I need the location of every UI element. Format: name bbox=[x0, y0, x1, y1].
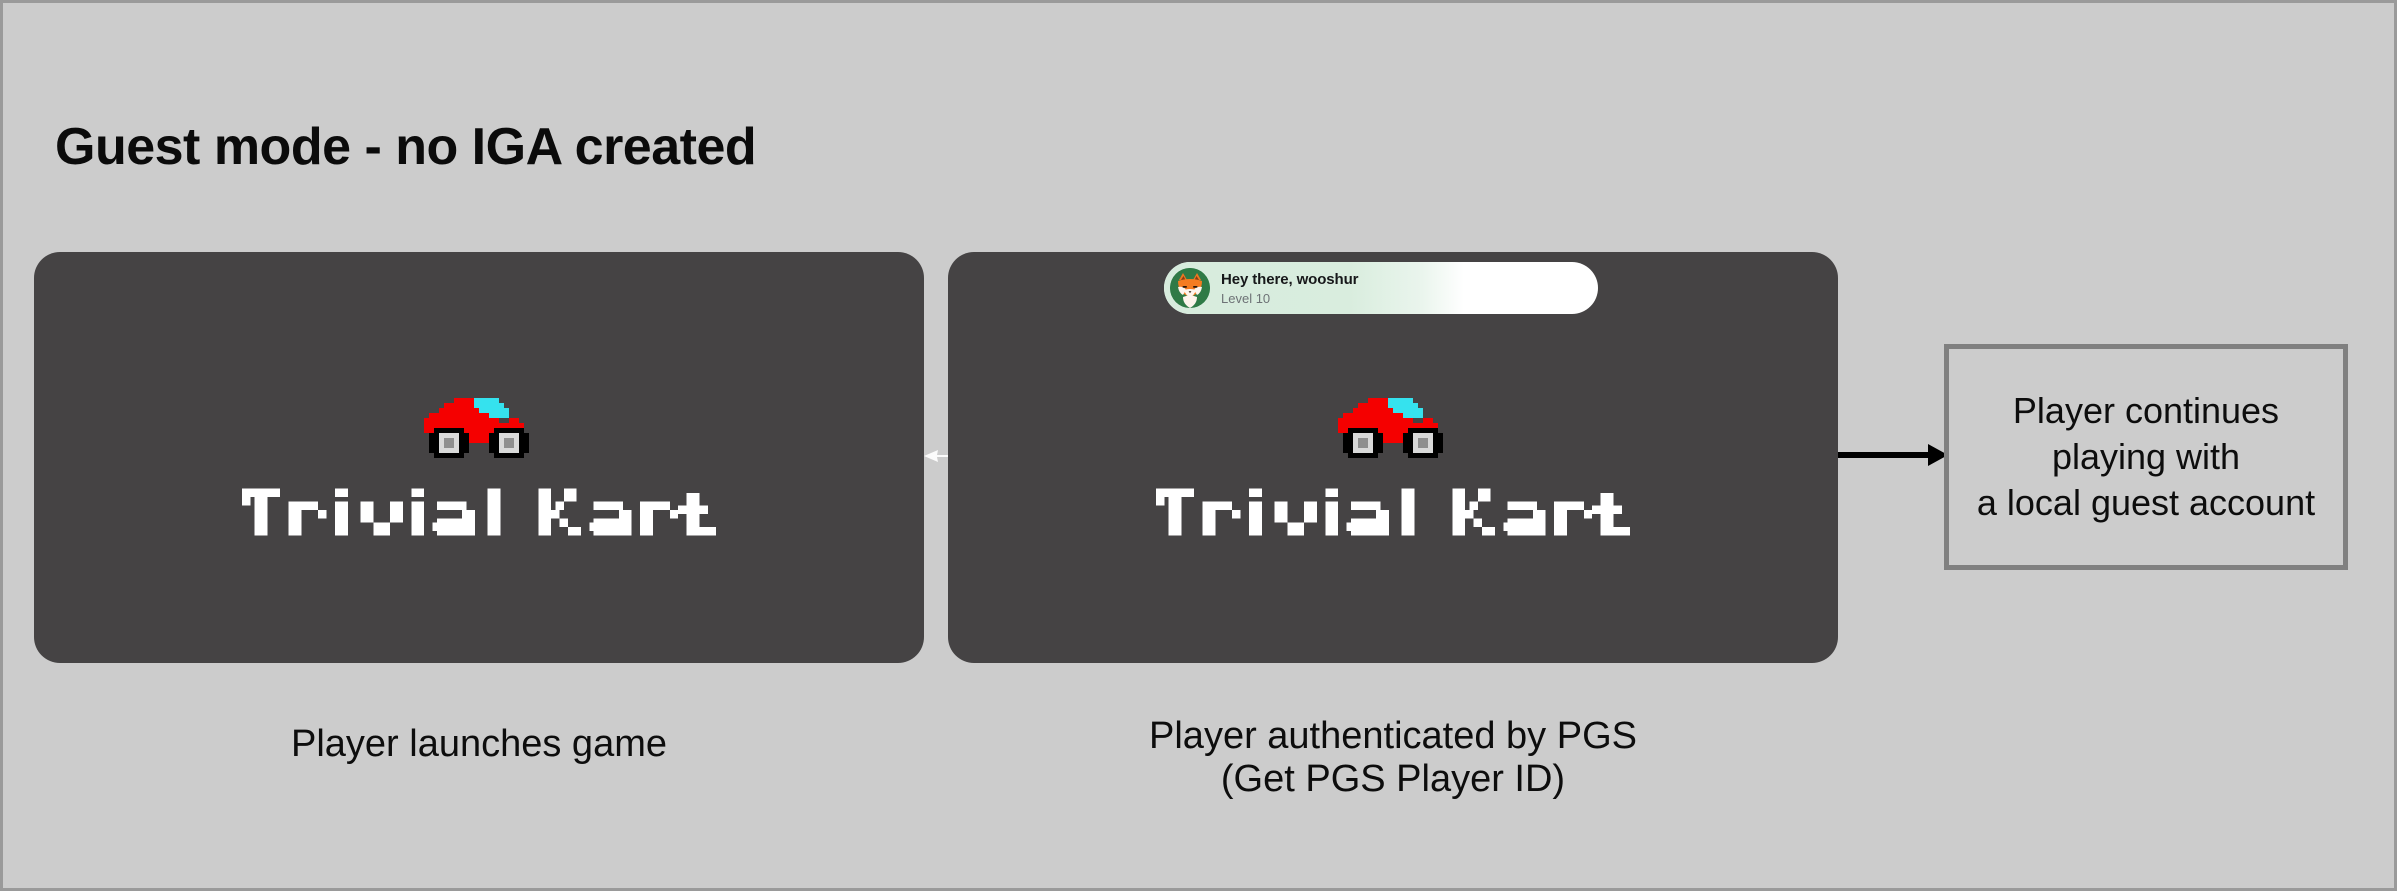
panel-connector-arrow-icon bbox=[924, 447, 948, 465]
pixel-car-icon bbox=[1323, 388, 1463, 458]
outcome-text: Player continues playing with a local gu… bbox=[1977, 388, 2315, 526]
page-title: Guest mode - no IGA created bbox=[55, 117, 756, 177]
panel-caption-2: Player authenticated by PGS (Get PGS Pla… bbox=[948, 715, 1838, 800]
pixel-car-wheel-rear bbox=[1403, 428, 1443, 458]
game-logo-block-2: Trivial Kart bbox=[948, 388, 1838, 548]
pgs-toast-level: Level 10 bbox=[1221, 292, 1358, 305]
flow-arrow-icon bbox=[1838, 440, 1948, 470]
pixel-car-icon bbox=[409, 388, 549, 458]
pgs-welcome-toast[interactable]: Hey there, wooshur Level 10 bbox=[1164, 262, 1598, 314]
panel-caption-1: Player launches game bbox=[34, 723, 924, 766]
game-screen-panel-1[interactable]: Trivial Kart bbox=[34, 252, 924, 663]
fox-avatar-icon bbox=[1170, 268, 1210, 308]
diagram-canvas: Guest mode - no IGA created bbox=[0, 0, 2397, 891]
pixel-car-wheel-rear bbox=[489, 428, 529, 458]
pgs-toast-greeting: Hey there, wooshur bbox=[1221, 272, 1358, 287]
game-title-wordmark-2: Trivial Kart bbox=[1156, 476, 1630, 548]
game-screen-panel-2[interactable]: Hey there, wooshur Level 10 bbox=[948, 252, 1838, 663]
pixel-car-wheel-front bbox=[429, 428, 469, 458]
pixel-car-wheel-front bbox=[1343, 428, 1383, 458]
outcome-box: Player continues playing with a local gu… bbox=[1944, 344, 2348, 570]
game-logo-block-1: Trivial Kart bbox=[34, 388, 924, 548]
pgs-toast-text-group: Hey there, wooshur Level 10 bbox=[1221, 272, 1358, 305]
game-title-wordmark-1: Trivial Kart bbox=[242, 476, 716, 548]
